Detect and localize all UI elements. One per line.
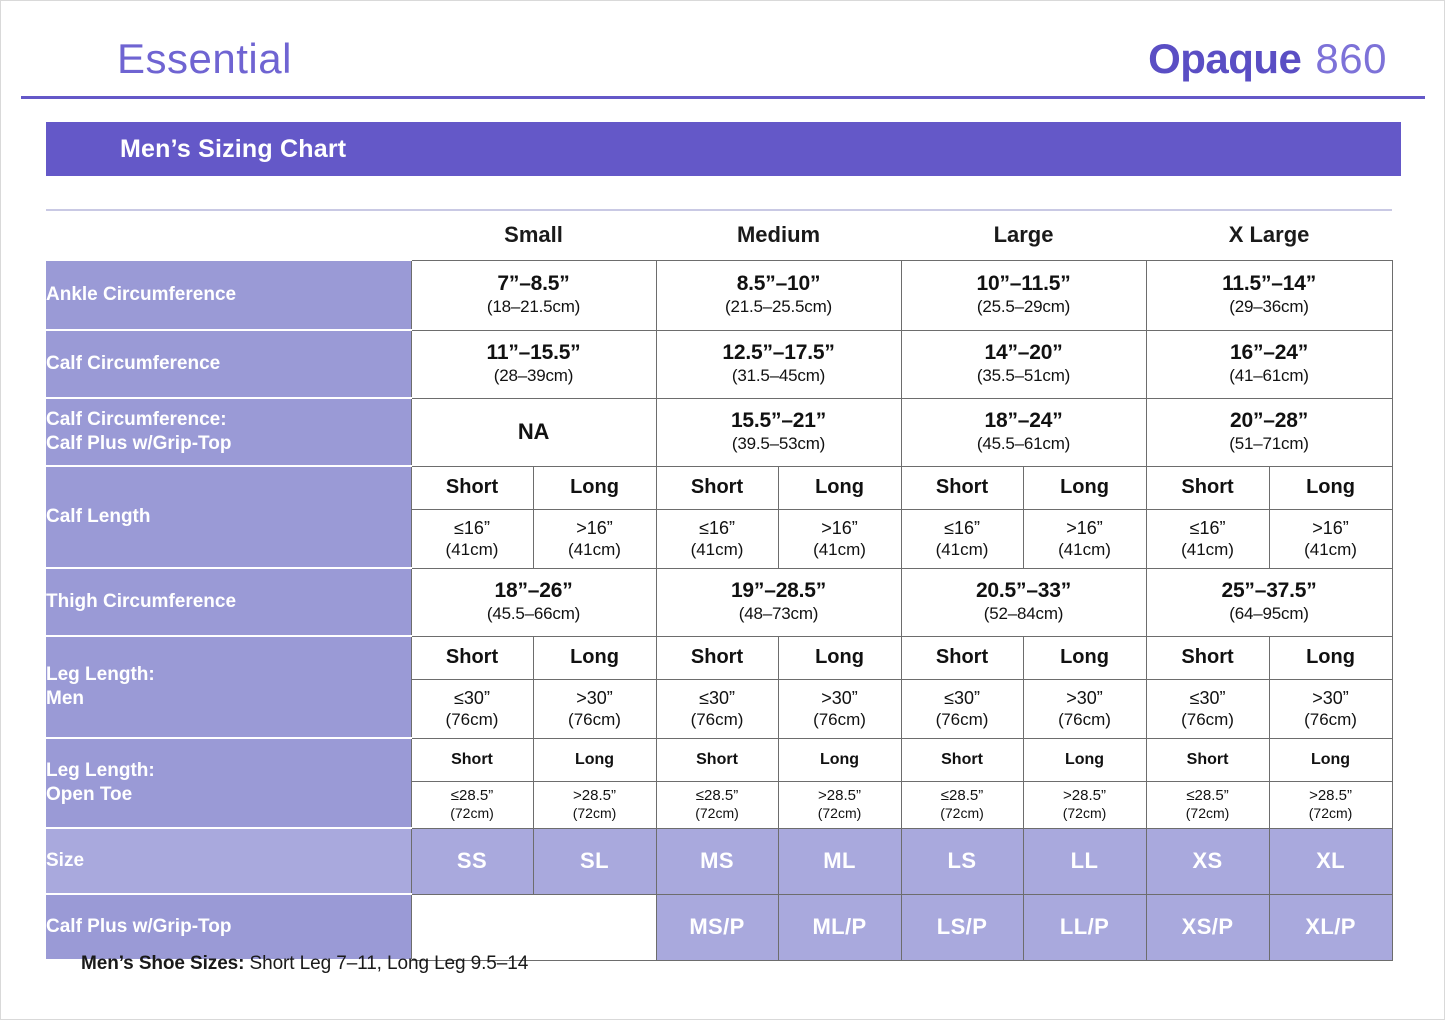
sizing-table: Small Medium Large X Large Ankle Circumf… (46, 209, 1393, 961)
column-header-small: Small (411, 210, 656, 260)
cell-primary-value: 18”–26” (412, 579, 656, 604)
cell-opentoe-xl-short: ≤28.5” (72cm) (1146, 781, 1269, 828)
cell-calfplus-xlarge: 20”–28” (51–71cm) (1146, 398, 1392, 466)
cell-primary-value: >28.5” (779, 787, 901, 805)
size-code-xlp: XL/P (1269, 894, 1392, 960)
sizing-table-wrapper: Small Medium Large X Large Ankle Circumf… (46, 209, 1392, 961)
size-code-ll: LL (1023, 828, 1146, 894)
cell-calf-length-s-long: >16” (41cm) (533, 510, 656, 568)
column-header-xlarge: X Large (1146, 210, 1392, 260)
cell-primary-value: 11”–15.5” (412, 341, 656, 366)
subheader-leg-men-l-short: Short (901, 636, 1023, 680)
subheader-calf-length-s-short: Short (411, 466, 533, 510)
table-row: Ankle Circumference 7”–8.5” (18–21.5cm) … (46, 260, 1392, 330)
cell-metric-value: (72cm) (534, 805, 656, 822)
size-code-sl: SL (533, 828, 656, 894)
cell-ankle-medium: 8.5”–10” (21.5–25.5cm) (656, 260, 901, 330)
subheader-leg-men-xl-short: Short (1146, 636, 1269, 680)
cell-opentoe-s-short: ≤28.5” (72cm) (411, 781, 533, 828)
subheader-calf-length-m-long: Long (778, 466, 901, 510)
sizing-chart-page: Essential Opaque 860 Men’s Sizing Chart … (0, 0, 1445, 1020)
cell-leg-men-m-long: >30” (76cm) (778, 680, 901, 738)
cell-metric-value: (64–95cm) (1147, 604, 1392, 624)
cell-metric-value: (31.5–45cm) (657, 366, 901, 386)
cell-primary-value: ≤30” (902, 688, 1023, 710)
cell-metric-value: (52–84cm) (902, 604, 1146, 624)
size-code-mlp: ML/P (778, 894, 901, 960)
cell-metric-value: (41cm) (1147, 540, 1269, 560)
cell-leg-men-l-long: >30” (76cm) (1023, 680, 1146, 738)
cell-leg-men-l-short: ≤30” (76cm) (901, 680, 1023, 738)
row-label-size: Size (46, 828, 411, 894)
cell-primary-value: 25”–37.5” (1147, 579, 1392, 604)
cell-metric-value: (41–61cm) (1147, 366, 1392, 386)
cell-opentoe-l-long: >28.5” (72cm) (1023, 781, 1146, 828)
cell-metric-value: (76cm) (412, 710, 533, 730)
subheader-opentoe-s-long: Long (533, 738, 656, 781)
cell-metric-value: (48–73cm) (657, 604, 901, 624)
cell-primary-value: >16” (534, 518, 656, 540)
subheader-opentoe-xl-long: Long (1269, 738, 1392, 781)
cell-primary-value: >28.5” (1270, 787, 1392, 805)
subheader-opentoe-m-short: Short (656, 738, 778, 781)
subheader-opentoe-s-short: Short (411, 738, 533, 781)
brand-header: Essential Opaque 860 (21, 21, 1425, 99)
column-header-spacer (46, 210, 411, 260)
cell-calf-length-m-long: >16” (41cm) (778, 510, 901, 568)
subheader-leg-men-s-short: Short (411, 636, 533, 680)
cell-primary-value: 15.5”–21” (657, 409, 901, 434)
cell-opentoe-s-long: >28.5” (72cm) (533, 781, 656, 828)
row-label-calf-plus-grip-top-sizes: Calf Plus w/Grip-Top (46, 894, 411, 960)
table-row: Calf Plus w/Grip-Top MS/P ML/P LS/P LL/P… (46, 894, 1392, 960)
cell-primary-value: >16” (1024, 518, 1146, 540)
cell-metric-value: (41cm) (779, 540, 901, 560)
cell-calf-length-m-short: ≤16” (41cm) (656, 510, 778, 568)
cell-primary-value: 20.5”–33” (902, 579, 1146, 604)
cell-primary-value: ≤28.5” (1147, 787, 1269, 805)
cell-metric-value: (45.5–61cm) (902, 434, 1146, 454)
cell-primary-value: >16” (779, 518, 901, 540)
cell-metric-value: (35.5–51cm) (902, 366, 1146, 386)
cell-primary-value: >28.5” (534, 787, 656, 805)
row-label-line-2: Calf Plus w/Grip-Top (46, 433, 231, 454)
row-label-line-1: Calf Circumference: (46, 409, 227, 430)
subheader-opentoe-l-short: Short (901, 738, 1023, 781)
table-row: Calf Circumference 11”–15.5” (28–39cm) 1… (46, 330, 1392, 398)
cell-metric-value: (41cm) (1024, 540, 1146, 560)
subheader-leg-men-m-short: Short (656, 636, 778, 680)
subheader-leg-men-s-long: Long (533, 636, 656, 680)
cell-leg-men-s-long: >30” (76cm) (533, 680, 656, 738)
column-header-medium: Medium (656, 210, 901, 260)
cell-calf-length-s-short: ≤16” (41cm) (411, 510, 533, 568)
size-code-xl: XL (1269, 828, 1392, 894)
footnote-label: Men’s Shoe Sizes: (81, 953, 244, 974)
row-label-line-2: Men (46, 688, 84, 709)
cell-metric-value: (76cm) (1270, 710, 1392, 730)
cell-calf-length-xl-short: ≤16” (41cm) (1146, 510, 1269, 568)
cell-opentoe-xl-long: >28.5” (72cm) (1269, 781, 1392, 828)
cell-opentoe-m-short: ≤28.5” (72cm) (656, 781, 778, 828)
cell-thigh-large: 20.5”–33” (52–84cm) (901, 568, 1146, 636)
cell-metric-value: (28–39cm) (412, 366, 656, 386)
cell-metric-value: (41cm) (412, 540, 533, 560)
subheader-opentoe-l-long: Long (1023, 738, 1146, 781)
cell-primary-value: 18”–24” (902, 409, 1146, 434)
cell-calf-large: 14”–20” (35.5–51cm) (901, 330, 1146, 398)
cell-primary-value: 11.5”–14” (1147, 272, 1392, 297)
cell-calfplus-small: NA (411, 398, 656, 466)
cell-primary-value: >30” (779, 688, 901, 710)
size-code-xsp: XS/P (1146, 894, 1269, 960)
subheader-opentoe-m-long: Long (778, 738, 901, 781)
table-row: Thigh Circumference 18”–26” (45.5–66cm) … (46, 568, 1392, 636)
cell-metric-value: (72cm) (902, 805, 1023, 822)
subheader-calf-length-xl-long: Long (1269, 466, 1392, 510)
table-row: Calf Length Short Long Short Long Short … (46, 466, 1392, 510)
size-code-llp: LL/P (1023, 894, 1146, 960)
cell-leg-men-s-short: ≤30” (76cm) (411, 680, 533, 738)
cell-primary-value: 16”–24” (1147, 341, 1392, 366)
cell-primary-value: 8.5”–10” (657, 272, 901, 297)
cell-ankle-large: 10”–11.5” (25.5–29cm) (901, 260, 1146, 330)
size-code-xs: XS (1146, 828, 1269, 894)
cell-primary-value: NA (412, 419, 656, 445)
cell-leg-men-xl-short: ≤30” (76cm) (1146, 680, 1269, 738)
cell-primary-value: >30” (1270, 688, 1392, 710)
cell-leg-men-m-short: ≤30” (76cm) (656, 680, 778, 738)
cell-metric-value: (76cm) (657, 710, 778, 730)
cell-primary-value: ≤16” (1147, 518, 1269, 540)
size-code-ms: MS (656, 828, 778, 894)
cell-calf-small: 11”–15.5” (28–39cm) (411, 330, 656, 398)
cell-calfplus-medium: 15.5”–21” (39.5–53cm) (656, 398, 901, 466)
cell-calf-length-l-long: >16” (41cm) (1023, 510, 1146, 568)
cell-calf-medium: 12.5”–17.5” (31.5–45cm) (656, 330, 901, 398)
subheader-calf-length-m-short: Short (656, 466, 778, 510)
product-number: 860 (1315, 38, 1387, 80)
cell-primary-value: ≤28.5” (412, 787, 533, 805)
table-row: Calf Circumference: Calf Plus w/Grip-Top… (46, 398, 1392, 466)
cell-primary-value: ≤16” (412, 518, 533, 540)
row-label-leg-length-open-toe: Leg Length: Open Toe (46, 738, 411, 828)
cell-metric-value: (29–36cm) (1147, 297, 1392, 317)
cell-ankle-small: 7”–8.5” (18–21.5cm) (411, 260, 656, 330)
cell-opentoe-l-short: ≤28.5” (72cm) (901, 781, 1023, 828)
cell-calf-xlarge: 16”–24” (41–61cm) (1146, 330, 1392, 398)
cell-metric-value: (76cm) (1024, 710, 1146, 730)
cell-metric-value: (76cm) (534, 710, 656, 730)
cell-metric-value: (41cm) (1270, 540, 1392, 560)
cell-thigh-small: 18”–26” (45.5–66cm) (411, 568, 656, 636)
cell-metric-value: (72cm) (779, 805, 901, 822)
cell-metric-value: (76cm) (902, 710, 1023, 730)
cell-primary-value: >16” (1270, 518, 1392, 540)
cell-calf-length-xl-long: >16” (41cm) (1269, 510, 1392, 568)
cell-primary-value: ≤28.5” (902, 787, 1023, 805)
cell-metric-value: (51–71cm) (1147, 434, 1392, 454)
row-label-ankle-circumference: Ankle Circumference (46, 260, 411, 330)
row-label-leg-length-men: Leg Length: Men (46, 636, 411, 738)
row-label-thigh-circumference: Thigh Circumference (46, 568, 411, 636)
cell-metric-value: (76cm) (1147, 710, 1269, 730)
cell-primary-value: >28.5” (1024, 787, 1146, 805)
cell-calfplus-large: 18”–24” (45.5–61cm) (901, 398, 1146, 466)
subheader-leg-men-l-long: Long (1023, 636, 1146, 680)
column-header-large: Large (901, 210, 1146, 260)
subheader-leg-men-xl-long: Long (1269, 636, 1392, 680)
cell-opentoe-m-long: >28.5” (72cm) (778, 781, 901, 828)
cell-metric-value: (76cm) (779, 710, 901, 730)
product-line-name: Essential (117, 38, 292, 80)
product-identity: Opaque 860 (1148, 38, 1387, 80)
cell-metric-value: (72cm) (1024, 805, 1146, 822)
row-label-line-2: Open Toe (46, 784, 132, 805)
shoe-size-footnote: Men’s Shoe Sizes: Short Leg 7–11, Long L… (81, 953, 528, 975)
cell-thigh-medium: 19”–28.5” (48–73cm) (656, 568, 901, 636)
cell-primary-value: ≤30” (1147, 688, 1269, 710)
cell-metric-value: (72cm) (657, 805, 778, 822)
cell-metric-value: (39.5–53cm) (657, 434, 901, 454)
table-row: Leg Length: Men Short Long Short Long Sh… (46, 636, 1392, 680)
row-label-line-1: Leg Length: (46, 664, 155, 685)
cell-metric-value: (72cm) (1270, 805, 1392, 822)
cell-primary-value: ≤16” (657, 518, 778, 540)
table-row: Leg Length: Open Toe Short Long Short Lo… (46, 738, 1392, 781)
subheader-calf-length-l-short: Short (901, 466, 1023, 510)
cell-leg-men-xl-long: >30” (76cm) (1269, 680, 1392, 738)
size-code-ss: SS (411, 828, 533, 894)
cell-metric-value: (41cm) (657, 540, 778, 560)
cell-metric-value: (18–21.5cm) (412, 297, 656, 317)
cell-primary-value: ≤30” (412, 688, 533, 710)
cell-primary-value: >30” (1024, 688, 1146, 710)
row-label-calf-length: Calf Length (46, 466, 411, 568)
cell-ankle-xlarge: 11.5”–14” (29–36cm) (1146, 260, 1392, 330)
subheader-calf-length-s-long: Long (533, 466, 656, 510)
size-code-calfplus-small-empty (411, 894, 656, 960)
cell-metric-value: (45.5–66cm) (412, 604, 656, 624)
cell-primary-value: ≤30” (657, 688, 778, 710)
cell-primary-value: 7”–8.5” (412, 272, 656, 297)
table-row: Size SS SL MS ML LS LL XS XL (46, 828, 1392, 894)
table-column-header-row: Small Medium Large X Large (46, 210, 1392, 260)
cell-metric-value: (41cm) (902, 540, 1023, 560)
cell-primary-value: ≤28.5” (657, 787, 778, 805)
subheader-calf-length-xl-short: Short (1146, 466, 1269, 510)
row-label-line-1: Leg Length: (46, 760, 155, 781)
footnote-value: Short Leg 7–11, Long Leg 9.5–14 (244, 953, 528, 974)
title-banner: Men’s Sizing Chart (46, 122, 1401, 176)
cell-primary-value: ≤16” (902, 518, 1023, 540)
cell-primary-value: >30” (534, 688, 656, 710)
cell-primary-value: 19”–28.5” (657, 579, 901, 604)
cell-metric-value: (72cm) (1147, 805, 1269, 822)
cell-primary-value: 10”–11.5” (902, 272, 1146, 297)
size-code-ml: ML (778, 828, 901, 894)
row-label-calf-circumference: Calf Circumference (46, 330, 411, 398)
cell-primary-value: 14”–20” (902, 341, 1146, 366)
subheader-leg-men-m-long: Long (778, 636, 901, 680)
page-title: Men’s Sizing Chart (46, 135, 346, 164)
cell-primary-value: 12.5”–17.5” (657, 341, 901, 366)
cell-primary-value: 20”–28” (1147, 409, 1392, 434)
size-code-ls: LS (901, 828, 1023, 894)
row-label-calf-plus-grip-top: Calf Circumference: Calf Plus w/Grip-Top (46, 398, 411, 466)
subheader-opentoe-xl-short: Short (1146, 738, 1269, 781)
cell-thigh-xlarge: 25”–37.5” (64–95cm) (1146, 568, 1392, 636)
product-name: Opaque (1148, 38, 1301, 80)
subheader-calf-length-l-long: Long (1023, 466, 1146, 510)
cell-metric-value: (25.5–29cm) (902, 297, 1146, 317)
size-code-msp: MS/P (656, 894, 778, 960)
cell-calf-length-l-short: ≤16” (41cm) (901, 510, 1023, 568)
size-code-lsp: LS/P (901, 894, 1023, 960)
cell-metric-value: (72cm) (412, 805, 533, 822)
cell-metric-value: (21.5–25.5cm) (657, 297, 901, 317)
cell-metric-value: (41cm) (534, 540, 656, 560)
